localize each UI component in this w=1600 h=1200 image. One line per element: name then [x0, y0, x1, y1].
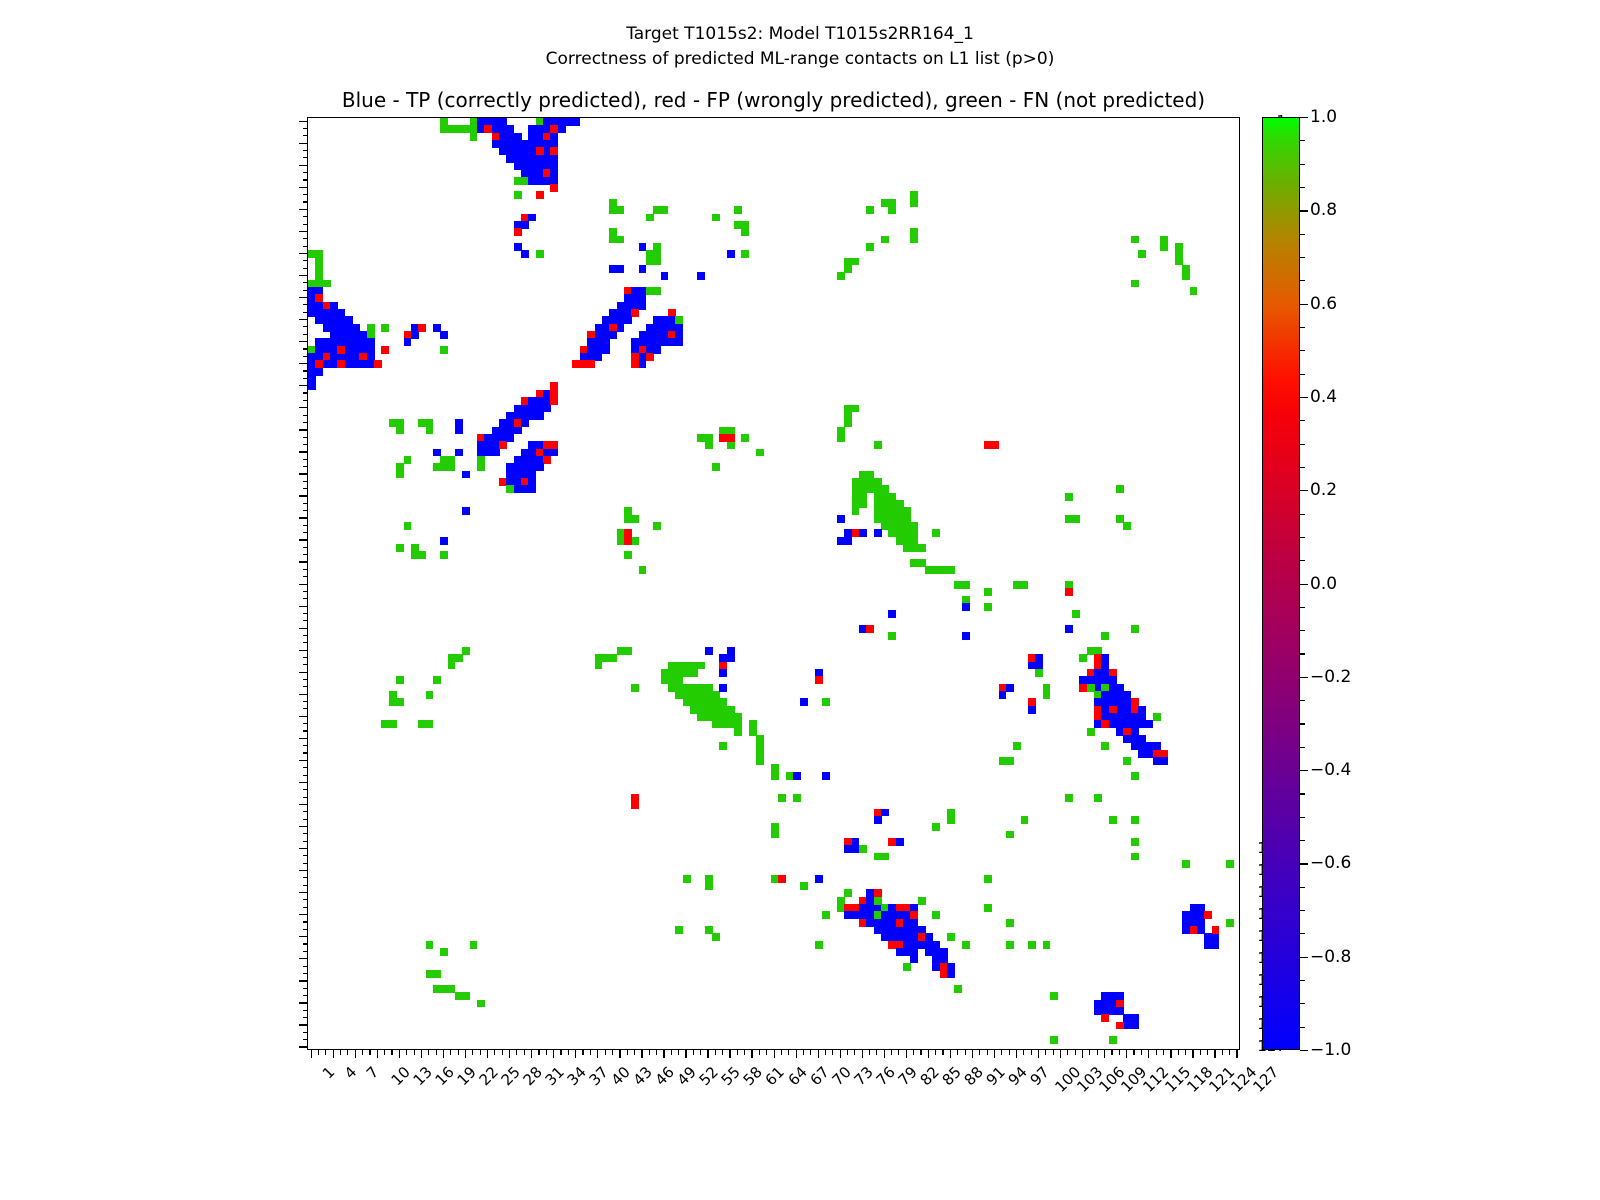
y-tick-major	[299, 121, 307, 122]
contact-cell	[543, 405, 551, 413]
x-tick-major	[1236, 1050, 1237, 1058]
figure-suptitle: Target T1015s2: Model T1015s2RR164_1 Cor…	[0, 22, 1600, 71]
y-tick-minor	[303, 459, 308, 460]
y-tick-minor	[303, 172, 308, 173]
y-tick-minor	[303, 752, 308, 753]
y-tick-major	[299, 143, 307, 144]
colorbar-tick-major	[1300, 117, 1308, 118]
contact-cell	[1072, 515, 1080, 523]
x-tick-minor	[920, 1050, 921, 1055]
x-tick-minor	[693, 1050, 694, 1055]
x-tick-minor	[715, 1050, 716, 1055]
contact-cell	[712, 214, 720, 222]
y-tick-minor	[303, 943, 308, 944]
contact-cell	[984, 588, 992, 596]
contact-cell	[323, 280, 331, 288]
x-tick-major	[355, 1050, 356, 1058]
contact-cell	[852, 258, 860, 266]
colorbar-tick-minor	[1300, 793, 1305, 794]
y-tick-major	[299, 958, 307, 959]
x-tick-minor	[722, 1050, 723, 1055]
contact-cell	[631, 537, 639, 545]
contact-cell	[903, 963, 911, 971]
x-tick-minor	[560, 1050, 561, 1055]
contact-cell	[426, 691, 434, 699]
y-tick-minor	[303, 841, 308, 842]
x-tick-major	[1214, 1050, 1215, 1058]
contact-cell	[771, 772, 779, 780]
x-tick-minor	[744, 1050, 745, 1055]
contact-cell	[639, 302, 647, 310]
contact-cell	[462, 647, 470, 655]
x-tick-major	[972, 1050, 973, 1058]
colorbar-tick-minor	[1300, 187, 1305, 188]
suptitle-line-2: Correctness of predicted ML-range contac…	[0, 47, 1600, 72]
contact-cell	[815, 676, 823, 684]
contact-cell	[550, 184, 558, 192]
x-tick-major	[1170, 1050, 1171, 1058]
contact-cell	[1131, 236, 1139, 244]
contact-cell	[536, 191, 544, 199]
y-tick-minor	[303, 635, 308, 636]
y-tick-minor	[303, 1032, 308, 1033]
x-tick-minor	[1023, 1050, 1024, 1055]
contact-cell	[440, 346, 448, 354]
contact-cell	[727, 441, 735, 449]
contact-cell	[426, 427, 434, 435]
contact-cell	[859, 500, 867, 508]
contact-cell	[683, 875, 691, 883]
colorbar-tick-label: −0.2	[1310, 667, 1351, 687]
x-tick-minor	[898, 1050, 899, 1055]
contact-cell	[1131, 853, 1139, 861]
y-tick-minor	[303, 260, 308, 261]
contact-cell	[418, 324, 426, 332]
y-tick-minor	[303, 701, 308, 702]
contact-cell	[1087, 728, 1095, 736]
contact-cell	[1160, 243, 1168, 251]
x-tick-major	[1016, 1050, 1017, 1058]
y-tick-major	[299, 1046, 307, 1047]
x-tick-major	[1148, 1050, 1149, 1058]
x-tick-major	[906, 1050, 907, 1058]
contact-cell	[1021, 816, 1029, 824]
y-tick-major	[299, 473, 307, 474]
contact-cell	[1101, 742, 1109, 750]
x-tick-major	[641, 1050, 642, 1058]
x-tick-major	[1192, 1050, 1193, 1058]
y-tick-major	[299, 231, 307, 232]
x-tick-minor	[1207, 1050, 1208, 1055]
contact-cell	[617, 265, 625, 273]
contact-cell	[1109, 816, 1117, 824]
contact-cell	[705, 882, 713, 890]
x-tick-minor	[414, 1050, 415, 1055]
contact-cell	[653, 346, 661, 354]
y-tick-minor	[303, 503, 308, 504]
y-tick-minor	[303, 657, 308, 658]
contact-cell	[756, 757, 764, 765]
colorbar-tick-major	[1300, 210, 1308, 211]
colorbar-tick-minor	[1300, 1027, 1305, 1028]
x-tick-minor	[1089, 1050, 1090, 1055]
contact-cell	[675, 338, 683, 346]
y-tick-minor	[303, 1010, 308, 1011]
y-tick-minor	[303, 767, 308, 768]
contact-cell	[521, 250, 529, 258]
contact-map-plot[interactable]	[307, 117, 1240, 1050]
colorbar-tick-label: 1.0	[1310, 107, 1337, 127]
y-tick-major	[299, 584, 307, 585]
x-tick-major	[465, 1050, 466, 1058]
x-tick-major	[862, 1050, 863, 1058]
x-tick-minor	[656, 1050, 657, 1055]
contact-cell	[690, 669, 698, 677]
contact-cell	[550, 449, 558, 457]
x-tick-minor	[1001, 1050, 1002, 1055]
contact-cell	[462, 992, 470, 1000]
y-tick-minor	[303, 547, 308, 548]
x-tick-minor	[1178, 1050, 1179, 1055]
x-tick-major	[1126, 1050, 1127, 1058]
x-tick-minor	[325, 1050, 326, 1055]
colorbar-tick-major	[1300, 584, 1308, 585]
contact-cell	[881, 236, 889, 244]
contact-cell	[389, 720, 397, 728]
x-tick-minor	[318, 1050, 319, 1055]
contact-cell	[844, 265, 852, 273]
contact-cell	[396, 698, 404, 706]
x-tick-minor	[987, 1050, 988, 1055]
x-axis-tick-label: 7	[363, 1063, 382, 1082]
contact-map-cells	[308, 118, 1239, 1049]
contact-cell	[962, 941, 970, 949]
contact-cell	[991, 441, 999, 449]
contact-cell	[528, 214, 536, 222]
x-tick-minor	[612, 1050, 613, 1055]
contact-cell	[404, 338, 412, 346]
y-tick-minor	[303, 613, 308, 614]
x-tick-major	[751, 1050, 752, 1058]
y-tick-minor	[303, 282, 308, 283]
contact-cell	[1131, 1022, 1139, 1030]
y-tick-major	[299, 870, 307, 871]
contact-cell	[609, 331, 617, 339]
contact-cell	[418, 551, 426, 559]
y-tick-major	[299, 760, 307, 761]
contact-cell	[1006, 757, 1014, 765]
colorbar-tick-label: 0.2	[1310, 480, 1337, 500]
y-tick-minor	[303, 569, 308, 570]
contact-cell	[595, 662, 603, 670]
x-tick-minor	[582, 1050, 583, 1055]
contact-cell	[866, 625, 874, 633]
x-tick-minor	[759, 1050, 760, 1055]
x-tick-minor	[788, 1050, 789, 1055]
x-tick-minor	[480, 1050, 481, 1055]
contact-cell	[381, 346, 389, 354]
y-tick-minor	[303, 135, 308, 136]
colorbar-tick-label: 0.0	[1310, 574, 1337, 594]
contact-cell	[1116, 1022, 1124, 1030]
y-tick-minor	[303, 679, 308, 680]
contact-cell	[962, 632, 970, 640]
y-tick-major	[299, 672, 307, 673]
y-tick-minor	[303, 775, 308, 776]
contact-cell	[617, 206, 625, 214]
contact-cell	[947, 816, 955, 824]
contact-cell	[1065, 588, 1073, 596]
contact-cell	[1065, 794, 1073, 802]
contact-cell	[1226, 860, 1234, 868]
y-tick-minor	[303, 444, 308, 445]
y-tick-major	[299, 936, 307, 937]
y-tick-minor	[303, 128, 308, 129]
contact-cell	[888, 206, 896, 214]
x-tick-minor	[1141, 1050, 1142, 1055]
colorbar-tick-minor	[1300, 700, 1305, 701]
y-tick-minor	[303, 973, 308, 974]
x-tick-major	[663, 1050, 664, 1058]
x-tick-minor	[634, 1050, 635, 1055]
contact-cell	[396, 544, 404, 552]
contact-cell	[1013, 742, 1021, 750]
colorbar-tick-minor	[1300, 560, 1305, 561]
x-tick-minor	[979, 1050, 980, 1055]
y-tick-minor	[303, 686, 308, 687]
contact-cell	[756, 449, 764, 457]
contact-cell	[932, 823, 940, 831]
contact-cell	[433, 970, 441, 978]
contact-cell	[639, 566, 647, 574]
contact-cell	[1072, 610, 1080, 618]
y-tick-major	[299, 363, 307, 364]
contact-cell	[440, 948, 448, 956]
y-tick-minor	[303, 224, 308, 225]
y-tick-major	[299, 341, 307, 342]
contact-cell	[852, 507, 860, 515]
y-tick-major	[299, 451, 307, 452]
contact-cell	[859, 845, 867, 853]
y-tick-major	[299, 385, 307, 386]
contact-cell	[932, 911, 940, 919]
y-tick-major	[299, 738, 307, 739]
contact-cell	[866, 243, 874, 251]
y-tick-major	[299, 517, 307, 518]
colorbar-tick-major	[1300, 397, 1308, 398]
y-tick-minor	[303, 334, 308, 335]
contact-cell	[433, 676, 441, 684]
contact-cell	[881, 809, 889, 817]
colorbar-tick-minor	[1300, 140, 1305, 141]
contact-cell	[426, 941, 434, 949]
contact-cell	[499, 441, 507, 449]
contact-cell	[646, 353, 654, 361]
contact-cell	[793, 794, 801, 802]
colorbar-tick-minor	[1300, 817, 1305, 818]
x-tick-major	[487, 1050, 488, 1058]
y-tick-major	[299, 275, 307, 276]
contact-cell	[315, 368, 323, 376]
x-tick-minor	[854, 1050, 855, 1055]
y-tick-minor	[303, 466, 308, 467]
y-tick-major	[299, 804, 307, 805]
colorbar-tick-minor	[1300, 280, 1305, 281]
x-tick-major	[553, 1050, 554, 1058]
contact-cell	[1204, 911, 1212, 919]
y-tick-minor	[303, 378, 308, 379]
contact-cell	[1131, 838, 1139, 846]
contact-cell	[514, 191, 522, 199]
y-tick-minor	[303, 929, 308, 930]
colorbar-tick-major	[1300, 677, 1308, 678]
contact-cell	[741, 434, 749, 442]
x-tick-major	[377, 1050, 378, 1058]
contact-cell	[448, 662, 456, 670]
contact-cell	[543, 456, 551, 464]
x-tick-minor	[1053, 1050, 1054, 1055]
contact-cell	[822, 772, 830, 780]
x-tick-minor	[671, 1050, 672, 1055]
contact-cell	[631, 801, 639, 809]
y-tick-major	[299, 606, 307, 607]
y-tick-minor	[303, 877, 308, 878]
contact-cell	[1050, 1036, 1058, 1044]
colorbar-tick-major	[1300, 490, 1308, 491]
contact-cell	[602, 346, 610, 354]
contact-cell	[881, 853, 889, 861]
x-tick-major	[531, 1050, 532, 1058]
contact-cell	[918, 897, 926, 905]
contact-cell	[778, 875, 786, 883]
contact-cell	[624, 316, 632, 324]
colorbar-tick-major	[1300, 1050, 1308, 1051]
colorbar-tick-minor	[1300, 607, 1305, 608]
contact-cell	[1028, 706, 1036, 714]
contact-cell	[697, 662, 705, 670]
y-tick-minor	[303, 356, 308, 357]
y-tick-minor	[303, 797, 308, 798]
contact-cell	[1138, 250, 1146, 258]
x-tick-major	[421, 1050, 422, 1058]
y-tick-minor	[303, 921, 308, 922]
colorbar-tick-major	[1300, 304, 1308, 305]
colorbar-tick-minor	[1300, 933, 1305, 934]
contact-cell	[1123, 522, 1131, 530]
colorbar-tick-label: 0.4	[1310, 387, 1337, 407]
colorbar-tick-major	[1300, 863, 1308, 864]
x-tick-minor	[428, 1050, 429, 1055]
x-tick-minor	[847, 1050, 848, 1055]
y-tick-major	[299, 319, 307, 320]
contact-cell	[896, 838, 904, 846]
colorbar-tick-minor	[1300, 420, 1305, 421]
y-tick-minor	[303, 730, 308, 731]
x-tick-minor	[1200, 1050, 1201, 1055]
contact-cell	[675, 926, 683, 934]
colorbar-tick-minor	[1300, 327, 1305, 328]
colorbar-tick-minor	[1300, 537, 1305, 538]
x-tick-minor	[391, 1050, 392, 1055]
contact-cell	[1109, 1036, 1117, 1044]
contact-cell	[1006, 684, 1014, 692]
contact-cell	[866, 206, 874, 214]
contact-cell	[719, 684, 727, 692]
x-tick-minor	[891, 1050, 892, 1055]
contact-cell	[1131, 280, 1139, 288]
contact-cell	[404, 456, 412, 464]
x-tick-major	[333, 1050, 334, 1058]
y-tick-major	[299, 980, 307, 981]
x-tick-major	[311, 1050, 312, 1058]
y-tick-minor	[303, 664, 308, 665]
y-tick-minor	[303, 201, 308, 202]
contact-cell	[999, 691, 1007, 699]
contact-cell	[308, 382, 316, 390]
contact-cell	[470, 941, 478, 949]
x-tick-minor	[347, 1050, 348, 1055]
x-tick-minor	[605, 1050, 606, 1055]
y-tick-minor	[303, 885, 308, 886]
contact-cell	[719, 742, 727, 750]
contact-cell	[734, 206, 742, 214]
contact-cell	[1160, 757, 1168, 765]
x-tick-minor	[1031, 1050, 1032, 1055]
contact-cell	[822, 911, 830, 919]
y-tick-major	[299, 848, 307, 849]
contact-cell	[954, 985, 962, 993]
contact-cell	[631, 309, 639, 317]
contact-cell	[852, 405, 860, 413]
contact-cell	[800, 882, 808, 890]
x-axis-tick-label: 4	[340, 1063, 359, 1082]
y-tick-minor	[303, 811, 308, 812]
contact-cell	[1065, 493, 1073, 501]
colorbar-tick-minor	[1300, 980, 1305, 981]
colorbar-tick-label: 0.8	[1310, 200, 1337, 220]
x-tick-minor	[369, 1050, 370, 1055]
contact-cell	[844, 889, 852, 897]
contact-cell	[1226, 919, 1234, 927]
contact-cell	[1182, 860, 1190, 868]
contact-cell	[550, 397, 558, 405]
contact-cell	[1101, 632, 1109, 640]
contact-cell	[609, 654, 617, 662]
contact-cell	[837, 434, 845, 442]
contact-cell	[1116, 485, 1124, 493]
contact-cell	[859, 529, 867, 537]
contact-cell	[315, 250, 323, 258]
y-tick-minor	[303, 525, 308, 526]
y-tick-major	[299, 628, 307, 629]
x-tick-minor	[627, 1050, 628, 1055]
contact-cell	[521, 419, 529, 427]
contact-cell	[1131, 625, 1139, 633]
y-tick-major	[299, 892, 307, 893]
contact-cell	[947, 970, 955, 978]
x-tick-minor	[1067, 1050, 1068, 1055]
x-axis-tick-label: 127	[1250, 1063, 1283, 1096]
colorbar-tick-minor	[1300, 374, 1305, 375]
y-tick-major	[299, 297, 307, 298]
y-tick-major	[299, 716, 307, 717]
contact-cell	[844, 419, 852, 427]
colorbar-ticks	[1262, 117, 1300, 1050]
contact-cell	[727, 250, 735, 258]
y-tick-minor	[303, 598, 308, 599]
contact-cell	[778, 794, 786, 802]
contact-cell	[624, 537, 632, 545]
